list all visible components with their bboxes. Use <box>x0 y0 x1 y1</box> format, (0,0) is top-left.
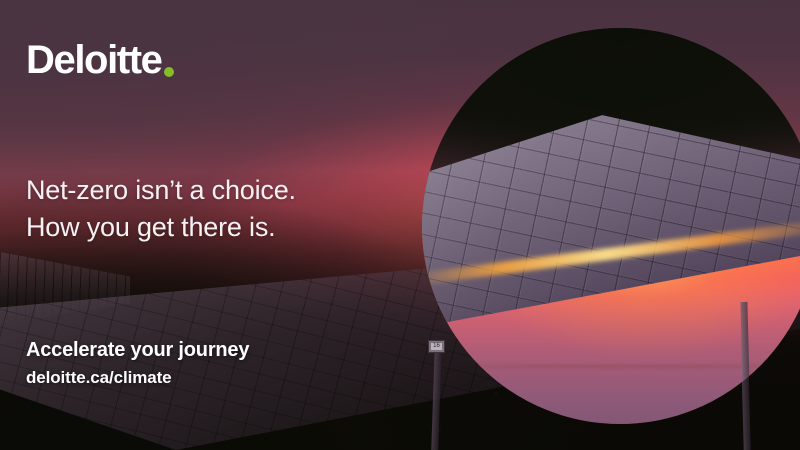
equipment-tag-label: 16 <box>429 342 444 350</box>
headline: Net-zero isn’t a choice. How you get the… <box>26 172 296 247</box>
call-to-action: Accelerate your journey deloitte.ca/clim… <box>26 338 249 388</box>
cta-url[interactable]: deloitte.ca/climate <box>26 368 249 388</box>
headline-line-2: How you get there is. <box>26 209 296 246</box>
logo-wordmark: Deloitte <box>26 40 161 80</box>
equipment-tag: 16 <box>428 340 445 353</box>
spotlight-circle <box>422 28 800 424</box>
deloitte-logo[interactable]: Deloitte <box>26 40 174 80</box>
headline-line-1: Net-zero isn’t a choice. <box>26 175 296 205</box>
green-dot-icon <box>164 67 174 77</box>
cta-title: Accelerate your journey <box>26 338 249 362</box>
advertisement-banner: 16 Deloitte Net-zero isn’t a choice. How… <box>0 0 800 450</box>
